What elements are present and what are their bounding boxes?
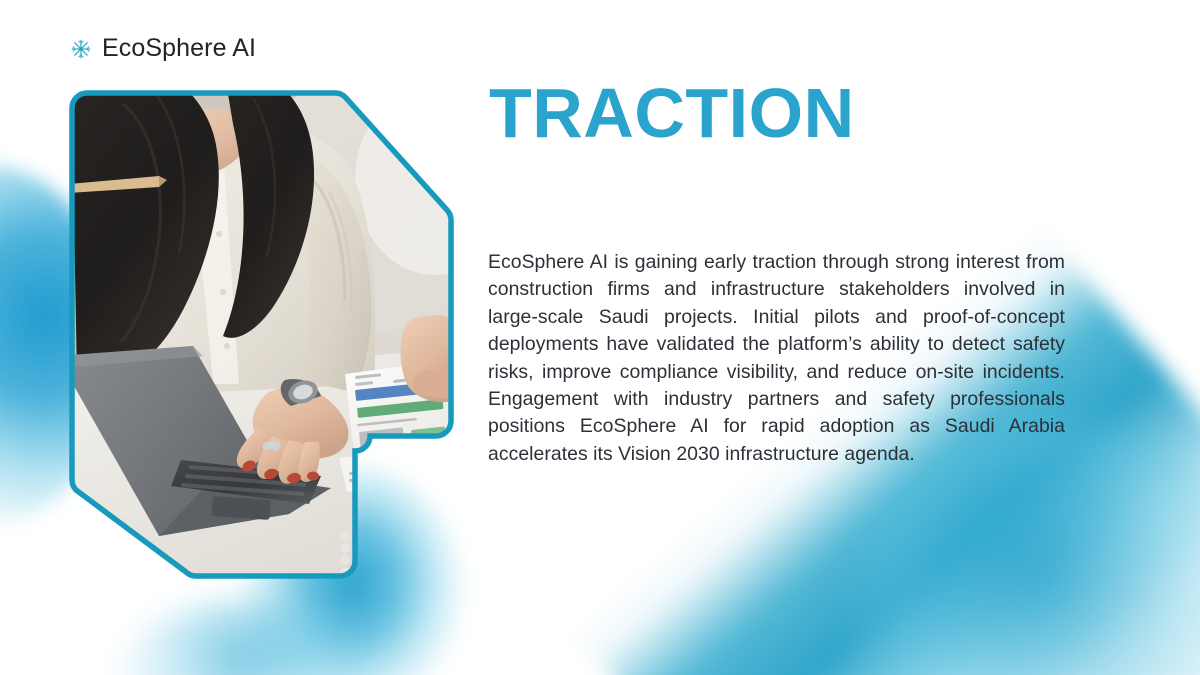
slide-canvas: EcoSphere AI — [0, 0, 1200, 675]
hero-photo — [63, 84, 463, 584]
page-title: TRACTION — [489, 78, 855, 148]
body-paragraph: EcoSphere AI is gaining early traction t… — [488, 249, 1065, 468]
brand-name: EcoSphere AI — [102, 36, 256, 61]
snowflake-star-icon — [70, 38, 92, 60]
brand-logo: EcoSphere AI — [70, 36, 256, 61]
hero-photo-frame — [63, 84, 463, 584]
blob-bottom-left-secondary-decoration — [120, 600, 370, 675]
